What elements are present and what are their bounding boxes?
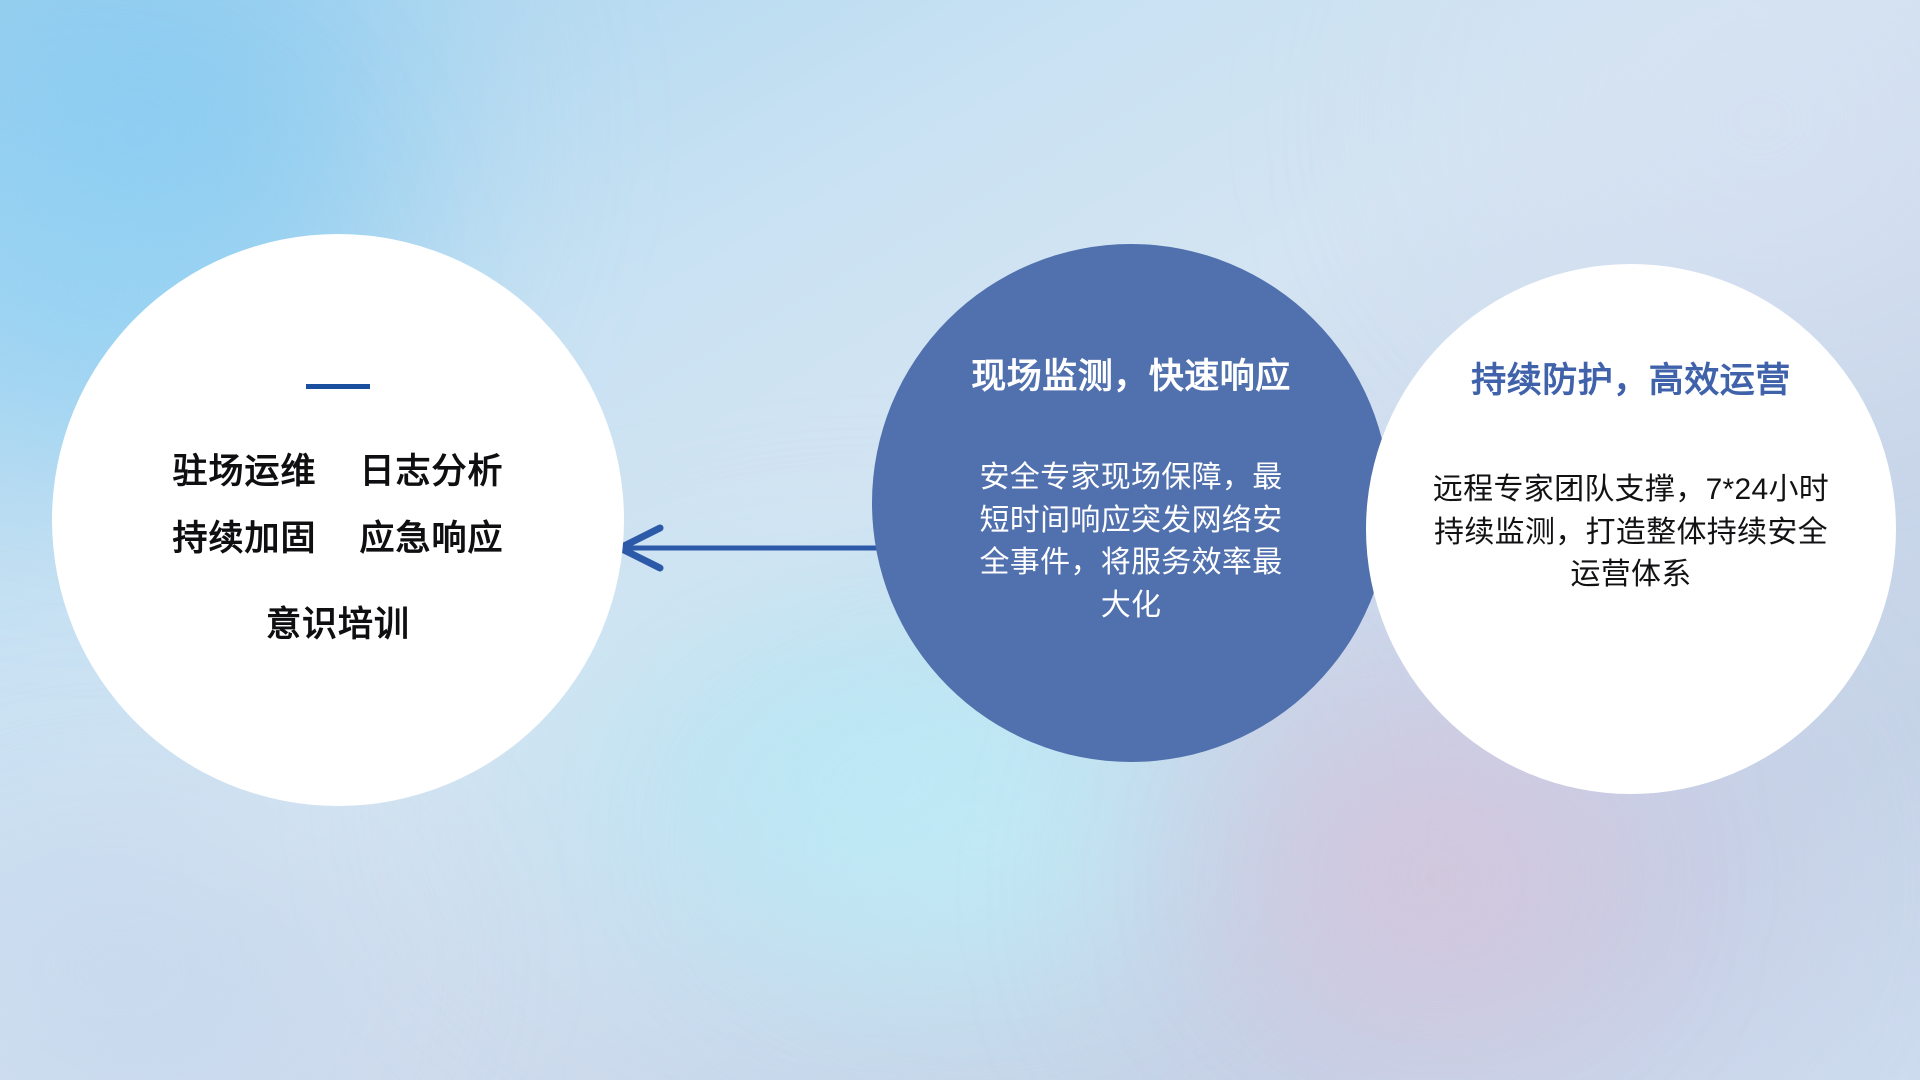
- middle-blue-circle[interactable]: [872, 244, 1390, 762]
- right-white-circle[interactable]: [1366, 264, 1896, 794]
- left-white-circle[interactable]: [52, 234, 624, 806]
- infographic-slide: 驻场运维 日志分析 持续加固 应急响应 意识培训 现场监测，快速响应 安全专家现…: [0, 0, 1920, 1080]
